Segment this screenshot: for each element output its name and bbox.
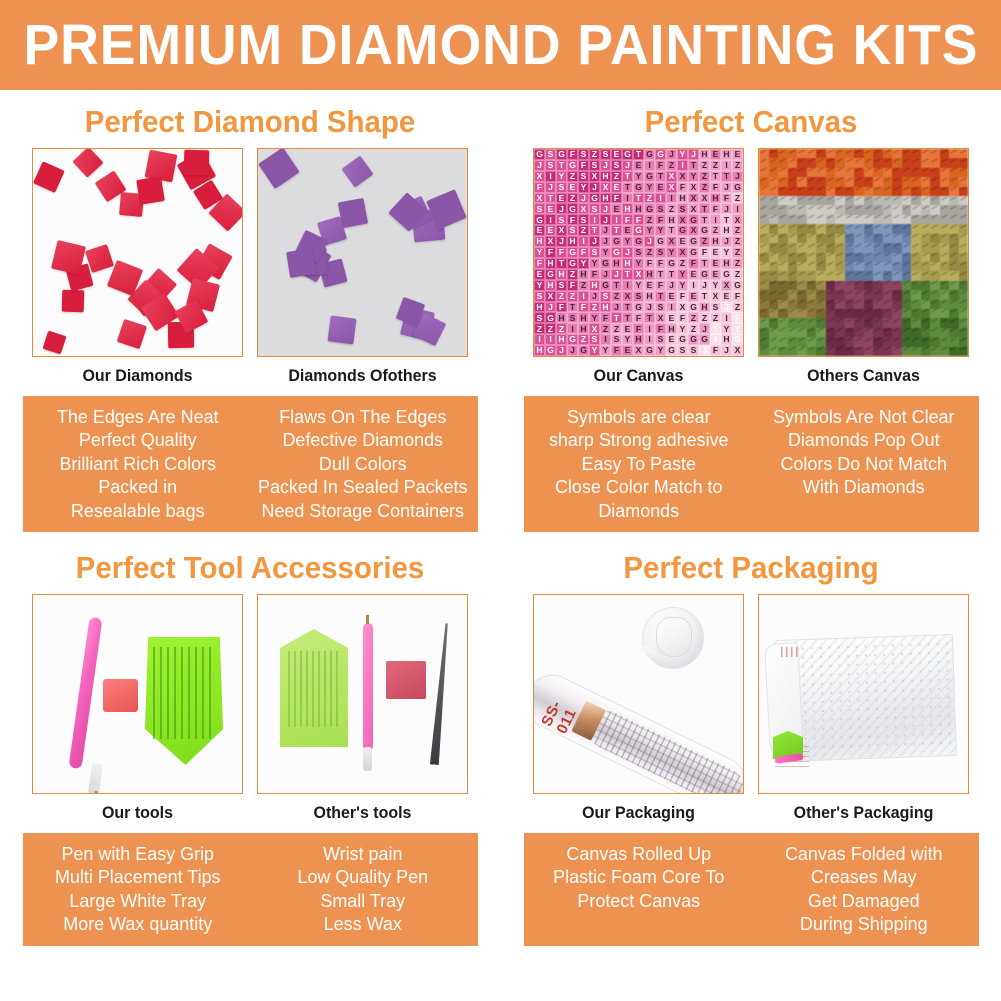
- canvas-symbol-cell: G: [677, 334, 688, 345]
- photo-our-diamonds: [32, 148, 243, 357]
- canvas-blur-cell: [816, 149, 826, 158]
- canvas-symbol-cell: X: [666, 171, 677, 182]
- canvas-symbol-cell: G: [589, 193, 600, 204]
- canvas-symbol-cell: J: [545, 302, 556, 313]
- canvas-blur-cell: [959, 318, 969, 327]
- canvas-blur-cell: [864, 168, 874, 177]
- photo-pair-packaging: SS-011 Our Packaging Other's P: [501, 594, 1001, 830]
- canvas-symbol-cell: J: [589, 236, 600, 247]
- text-line: Flaws On The Edges: [253, 405, 472, 428]
- canvas-symbol-cell: T: [699, 214, 710, 225]
- canvas-symbol-grid: GSGFSZSEGTGGJYJHEHEJSTGFSJSJEIFZITZZIZXI…: [534, 149, 743, 356]
- canvas-blur-cell: [845, 271, 855, 280]
- canvas-symbol-cell: I: [644, 334, 655, 345]
- canvas-blur-cell: [864, 337, 874, 346]
- canvas-symbol-cell: S: [655, 247, 666, 258]
- canvas-blur-cell: [902, 262, 912, 271]
- canvas-blur-cell: [921, 328, 931, 337]
- canvas-symbol-cell: I: [545, 334, 556, 345]
- canvas-symbol-cell: T: [710, 323, 721, 334]
- canvas-blur-cell: [769, 234, 779, 243]
- canvas-blur-cell: [835, 196, 845, 205]
- caption-other-packaging: Other's Packaging: [764, 794, 962, 830]
- canvas-blur-cell: [911, 347, 921, 356]
- canvas-blur-cell: [845, 158, 855, 167]
- canvas-blur-cell: [816, 347, 826, 356]
- canvas-symbol-cell: I: [677, 160, 688, 171]
- canvas-blur-cell: [892, 253, 902, 262]
- canvas-blur-cell: [864, 318, 874, 327]
- infographic-page: PREMIUM DIAMOND PAINTING KITS Perfect Di…: [0, 0, 1001, 1001]
- canvas-symbol-cell: H: [644, 291, 655, 302]
- canvas-blur-cell: [788, 158, 798, 167]
- canvas-blur-cell: [759, 187, 769, 196]
- canvas-blur-cell: [892, 224, 902, 233]
- canvas-blur-cell: [807, 224, 817, 233]
- canvas-blur-cell: [873, 234, 883, 243]
- canvas-symbol-cell: J: [732, 171, 743, 182]
- canvas-symbol-cell: E: [611, 203, 622, 214]
- canvas-symbol-cell: I: [589, 214, 600, 225]
- canvas-symbol-cell: Y: [677, 280, 688, 291]
- canvas-symbol-cell: Z: [710, 160, 721, 171]
- cell-other-packaging: Other's Packaging: [758, 594, 969, 830]
- canvas-blur-cell: [864, 253, 874, 262]
- canvas-blur-cell: [921, 309, 931, 318]
- text-line: Colors Do Not Match: [754, 452, 973, 475]
- canvas-blur-cell: [788, 337, 798, 346]
- canvas-blur-cell: [854, 271, 864, 280]
- canvas-symbol-cell: H: [600, 302, 611, 313]
- canvas-blur-cell: [845, 234, 855, 243]
- caption-our-canvas: Our Canvas: [539, 357, 737, 393]
- canvas-blur-cell: [930, 187, 940, 196]
- canvas-blur-cell: [911, 205, 921, 214]
- canvas-blur-cell: [921, 187, 931, 196]
- canvas-blur-cell: [892, 328, 902, 337]
- canvas-symbol-cell: T: [622, 182, 633, 193]
- canvas-blur-cell: [788, 281, 798, 290]
- canvas-blur-cell: [921, 215, 931, 224]
- canvas-symbol-cell: G: [567, 334, 578, 345]
- canvas-symbol-cell: S: [655, 334, 666, 345]
- canvas-symbol-cell: G: [567, 258, 578, 269]
- section-tool-accessories: Perfect Tool Accessories Our tools: [0, 538, 500, 946]
- canvas-blur-cell: [826, 243, 836, 252]
- canvas-blur-cell: [883, 205, 893, 214]
- canvas-blur-cell: [892, 290, 902, 299]
- canvas-symbol-cell: F: [655, 323, 666, 334]
- mailer-print-mark: [781, 647, 801, 657]
- canvas-symbol-cell: X: [688, 182, 699, 193]
- canvas-symbol-cell: G: [600, 280, 611, 291]
- canvas-blur-cell: [940, 281, 950, 290]
- canvas-symbol-cell: S: [545, 149, 556, 160]
- canvas-symbol-cell: H: [633, 334, 644, 345]
- canvas-blur-cell: [959, 309, 969, 318]
- canvas-blur-cell: [835, 205, 845, 214]
- canvas-blur-cell: [902, 196, 912, 205]
- canvas-blur-cell: [892, 281, 902, 290]
- canvas-blur-cell: [816, 337, 826, 346]
- cell-other-canvas: Others Canvas: [758, 148, 969, 393]
- canvas-blur-cell: [816, 158, 826, 167]
- canvas-blur-cell: [797, 281, 807, 290]
- canvas-symbol-cell: F: [644, 258, 655, 269]
- canvas-symbol-cell: Y: [534, 280, 545, 291]
- canvas-symbol-cell: F: [611, 345, 622, 356]
- text-column-ours: Canvas Rolled UpPlastic Foam Core ToProt…: [529, 842, 748, 936]
- canvas-symbol-cell: Z: [710, 225, 721, 236]
- canvas-blur-cell: [873, 196, 883, 205]
- canvas-blur-cell: [911, 177, 921, 186]
- canvas-blur-cell: [788, 262, 798, 271]
- canvas-blur-cell: [940, 243, 950, 252]
- canvas-symbol-cell: E: [710, 247, 721, 258]
- canvas-blur-cell: [826, 177, 836, 186]
- canvas-blur-cell: [845, 196, 855, 205]
- text-panel-tools: Pen with Easy GripMulti Placement TipsLa…: [23, 833, 478, 946]
- canvas-symbol-cell: T: [655, 291, 666, 302]
- canvas-symbol-cell: I: [666, 193, 677, 204]
- canvas-symbol-cell: F: [699, 247, 710, 258]
- canvas-blur-cell: [826, 224, 836, 233]
- canvas-symbol-cell: J: [567, 345, 578, 356]
- photo-our-packaging: SS-011: [533, 594, 744, 794]
- canvas-symbol-cell: H: [611, 258, 622, 269]
- wax-square: [103, 679, 138, 712]
- canvas-symbol-cell: T: [611, 280, 622, 291]
- canvas-blur-cell: [892, 149, 902, 158]
- canvas-symbol-cell: Y: [666, 247, 677, 258]
- canvas-symbol-cell: S: [556, 280, 567, 291]
- canvas-blur-cell: [816, 177, 826, 186]
- canvas-blur-cell: [892, 215, 902, 224]
- canvas-symbol-cell: G: [545, 312, 556, 323]
- canvas-symbol-cell: E: [611, 149, 622, 160]
- canvas-symbol-cell: G: [622, 149, 633, 160]
- canvas-blur-cell: [778, 271, 788, 280]
- canvas-blur-cell: [845, 205, 855, 214]
- canvas-blur-cell: [807, 300, 817, 309]
- canvas-blur-cell: [759, 271, 769, 280]
- canvas-symbol-cell: G: [732, 280, 743, 291]
- canvas-blur-cell: [911, 224, 921, 233]
- canvas-blur-cell: [864, 347, 874, 356]
- canvas-symbol-cell: X: [556, 225, 567, 236]
- canvas-blur-cell: [778, 149, 788, 158]
- canvas-blur-cell: [778, 337, 788, 346]
- canvas-symbol-cell: Z: [732, 302, 743, 313]
- canvas-blur-cell: [949, 168, 959, 177]
- canvas-symbol-cell: X: [677, 214, 688, 225]
- canvas-blur-cell: [835, 318, 845, 327]
- canvas-blur-cell: [959, 262, 969, 271]
- canvas-blur-cell: [835, 187, 845, 196]
- canvas-blur-cell: [854, 300, 864, 309]
- canvas-blur-cell: [930, 168, 940, 177]
- cell-our-canvas: GSGFSZSEGTGGJYJHEHEJSTGFSJSJEIFZITZZIZXI…: [533, 148, 744, 393]
- text-line: More Wax quantity: [28, 912, 247, 935]
- canvas-symbol-cell: Z: [699, 171, 710, 182]
- canvas-blur-cell: [864, 300, 874, 309]
- canvas-blur-cell: [797, 318, 807, 327]
- canvas-blur-cell: [930, 328, 940, 337]
- canvas-symbol-cell: F: [655, 214, 666, 225]
- text-line: Large White Tray: [28, 889, 247, 912]
- canvas-symbol-cell: E: [732, 149, 743, 160]
- canvas-blur-cell: [778, 215, 788, 224]
- canvas-blur-cell: [769, 196, 779, 205]
- canvas-symbol-cell: Z: [578, 280, 589, 291]
- canvas-blur-cell: [788, 243, 798, 252]
- canvas-blur-cell: [883, 290, 893, 299]
- canvas-blur-cell: [949, 234, 959, 243]
- canvas-blur-cell: [807, 262, 817, 271]
- canvas-symbol-cell: Z: [699, 182, 710, 193]
- canvas-blur-cell: [854, 309, 864, 318]
- canvas-blur-cell: [807, 149, 817, 158]
- canvas-symbol-cell: E: [677, 236, 688, 247]
- text-column-others: Wrist painLow Quality PenSmall TrayLess …: [253, 842, 472, 936]
- canvas-symbol-cell: G: [611, 236, 622, 247]
- canvas-symbol-cell: Y: [677, 149, 688, 160]
- canvas-symbol-cell: X: [688, 225, 699, 236]
- canvas-symbol-cell: S: [655, 203, 666, 214]
- canvas-symbol-cell: Y: [655, 225, 666, 236]
- canvas-blur-cell: [826, 309, 836, 318]
- canvas-blur-cell: [797, 177, 807, 186]
- canvas-blur-cell: [816, 290, 826, 299]
- canvas-blur-cell: [892, 234, 902, 243]
- wax-square: [386, 661, 426, 699]
- canvas-symbol-cell: S: [578, 171, 589, 182]
- cell-other-tools: Other's tools: [257, 594, 468, 830]
- canvas-blur-cell: [759, 281, 769, 290]
- canvas-symbol-cell: I: [644, 160, 655, 171]
- canvas-symbol-cell: Y: [644, 225, 655, 236]
- canvas-blur-cell: [949, 224, 959, 233]
- text-line: Symbols Are Not Clear: [754, 405, 973, 428]
- canvas-blur-cell: [807, 158, 817, 167]
- canvas-blur-cell: [883, 187, 893, 196]
- canvas-blur-cell: [959, 158, 969, 167]
- canvas-blur-cell: [902, 337, 912, 346]
- canvas-blur-cell: [845, 177, 855, 186]
- canvas-blur-cell: [835, 215, 845, 224]
- canvas-blur-cell: [921, 168, 931, 177]
- canvas-blur-cell: [864, 281, 874, 290]
- canvas-symbol-cell: Y: [600, 247, 611, 258]
- canvas-blur-cell: [940, 158, 950, 167]
- canvas-blur-cell: [769, 168, 779, 177]
- canvas-blur-cell: [921, 300, 931, 309]
- canvas-blur-cell: [854, 328, 864, 337]
- canvas-symbol-cell: E: [666, 334, 677, 345]
- canvas-blur-cell: [826, 215, 836, 224]
- pen-grip: [363, 747, 372, 771]
- canvas-symbol-cell: X: [545, 236, 556, 247]
- canvas-blur-cell: [826, 149, 836, 158]
- canvas-symbol-cell: Z: [644, 214, 655, 225]
- canvas-symbol-cell: S: [611, 160, 622, 171]
- text-panel-diamond-shape: The Edges Are NeatPerfect QualityBrillia…: [23, 396, 478, 532]
- section-canvas: Perfect Canvas GSGFSZSEGTGGJYJHEHEJSTGFS…: [501, 92, 1001, 532]
- canvas-symbol-cell: Y: [688, 171, 699, 182]
- canvas-symbol-cell: Z: [732, 258, 743, 269]
- canvas-symbol-cell: X: [534, 171, 545, 182]
- canvas-symbol-cell: S: [534, 203, 545, 214]
- canvas-symbol-cell: X: [721, 280, 732, 291]
- canvas-symbol-cell: Z: [732, 247, 743, 258]
- canvas-symbol-cell: G: [732, 182, 743, 193]
- canvas-blur-cell: [778, 347, 788, 356]
- canvas-blur-cell: [807, 253, 817, 262]
- canvas-symbol-cell: E: [721, 291, 732, 302]
- canvas-symbol-cell: J: [600, 214, 611, 225]
- canvas-blur-cell: [835, 177, 845, 186]
- canvas-blur-cell: [759, 243, 769, 252]
- canvas-blur-cell: [883, 224, 893, 233]
- canvas-symbol-cell: Y: [710, 280, 721, 291]
- canvas-blur-cell: [949, 243, 959, 252]
- canvas-blur-cell: [930, 149, 940, 158]
- canvas-blur-cell: [807, 271, 817, 280]
- canvas-blur-cell: [778, 318, 788, 327]
- canvas-symbol-cell: I: [721, 160, 732, 171]
- canvas-symbol-cell: Y: [644, 182, 655, 193]
- canvas-symbol-cell: T: [622, 312, 633, 323]
- canvas-blur-cell: [883, 318, 893, 327]
- canvas-blur-cell: [873, 243, 883, 252]
- canvas-symbol-cell: I: [622, 193, 633, 204]
- canvas-blur-cell: [959, 177, 969, 186]
- caption-our-tools: Our tools: [38, 794, 236, 830]
- canvas-blur-cell: [921, 337, 931, 346]
- section-title-packaging: Perfect Packaging: [514, 538, 989, 594]
- canvas-blur-cell: [797, 149, 807, 158]
- canvas-symbol-cell: G: [600, 258, 611, 269]
- canvas-blur-cell: [930, 337, 940, 346]
- canvas-blur-cell: [940, 300, 950, 309]
- canvas-blur-cell: [930, 158, 940, 167]
- canvas-blur-cell: [911, 234, 921, 243]
- canvas-blur-cell: [854, 243, 864, 252]
- canvas-symbol-cell: I: [710, 334, 721, 345]
- canvas-blur-cell: [902, 168, 912, 177]
- canvas-blur-cell: [940, 224, 950, 233]
- canvas-blur-cell: [940, 205, 950, 214]
- canvas-blur-cell: [854, 253, 864, 262]
- canvas-symbol-cell: F: [721, 193, 732, 204]
- canvas-blur-cell: [845, 309, 855, 318]
- canvas-symbol-cell: G: [644, 345, 655, 356]
- canvas-symbol-cell: G: [534, 149, 545, 160]
- text-line: Easy To Paste: [529, 452, 748, 475]
- canvas-blur-cell: [816, 243, 826, 252]
- canvas-blur-cell: [778, 205, 788, 214]
- canvas-blur-cell: [949, 205, 959, 214]
- text-column-ours: Symbols are clearsharp Strong adhesiveEa…: [529, 405, 748, 522]
- canvas-blur-cell: [892, 158, 902, 167]
- canvas-symbol-cell: Z: [644, 247, 655, 258]
- text-line: Plastic Foam Core To: [529, 865, 748, 888]
- canvas-blur-cell: [940, 177, 950, 186]
- canvas-blur-cell: [845, 290, 855, 299]
- canvas-blur-cell: [959, 253, 969, 262]
- canvas-symbol-cell: J: [534, 160, 545, 171]
- canvas-blur-cell: [959, 281, 969, 290]
- canvas-blur-cell: [921, 243, 931, 252]
- canvas-blur-cell: [807, 347, 817, 356]
- text-line: Perfect Quality: [28, 428, 247, 451]
- text-line: Canvas Folded with: [754, 842, 973, 865]
- canvas-blur-cell: [769, 262, 779, 271]
- canvas-blur-cell: [902, 281, 912, 290]
- canvas-symbol-cell: S: [677, 345, 688, 356]
- canvas-symbol-cell: I: [567, 323, 578, 334]
- canvas-blur-cell: [816, 328, 826, 337]
- text-line: Packed in: [28, 475, 247, 498]
- canvas-symbol-cell: T: [699, 291, 710, 302]
- canvas-blur-cell: [797, 215, 807, 224]
- canvas-blur-cell: [807, 309, 817, 318]
- canvas-blur-cell: [816, 234, 826, 243]
- canvas-symbol-cell: J: [644, 302, 655, 313]
- canvas-symbol-cell: T: [545, 193, 556, 204]
- canvas-blur-cell: [902, 309, 912, 318]
- canvas-blur-cell: [769, 253, 779, 262]
- canvas-blur-cell: [883, 149, 893, 158]
- canvas-symbol-cell: T: [622, 269, 633, 280]
- canvas-blur-cell: [883, 234, 893, 243]
- canvas-symbol-cell: F: [710, 345, 721, 356]
- canvas-blur-cell: [864, 196, 874, 205]
- photo-our-tools: [32, 594, 243, 794]
- text-line: Close Color Match to: [529, 475, 748, 498]
- canvas-blur-cell: [883, 281, 893, 290]
- canvas-symbol-cell: J: [721, 302, 732, 313]
- canvas-blur-cell: [864, 158, 874, 167]
- canvas-symbol-cell: G: [534, 214, 545, 225]
- canvas-symbol-cell: G: [556, 149, 567, 160]
- canvas-blur-cell: [769, 328, 779, 337]
- photo-pair-diamond-shape: Our Diamonds Diamonds Ofothers: [0, 148, 500, 393]
- canvas-blur-cell: [921, 234, 931, 243]
- canvas-symbol-cell: Z: [589, 302, 600, 313]
- canvas-blur-cell: [845, 224, 855, 233]
- canvas-blur-cell: [816, 318, 826, 327]
- text-line: During Shipping: [754, 912, 973, 935]
- canvas-symbol-cell: Y: [633, 280, 644, 291]
- cell-our-packaging: SS-011 Our Packaging: [533, 594, 744, 830]
- canvas-symbol-cell: T: [556, 258, 567, 269]
- canvas-blur-cell: [769, 158, 779, 167]
- canvas-blur-cell: [864, 243, 874, 252]
- canvas-blur-cell: [854, 158, 864, 167]
- canvas-blur-cell: [854, 234, 864, 243]
- canvas-symbol-cell: Z: [699, 236, 710, 247]
- canvas-blur-cell: [826, 337, 836, 346]
- canvas-blur-cell: [873, 215, 883, 224]
- caption-our-diamonds: Our Diamonds: [38, 357, 236, 393]
- canvas-symbol-cell: G: [633, 236, 644, 247]
- canvas-symbol-cell: E: [622, 323, 633, 334]
- canvas-symbol-cell: F: [534, 258, 545, 269]
- canvas-blur-cell: [873, 271, 883, 280]
- canvas-symbol-cell: Y: [721, 247, 732, 258]
- canvas-blur-cell: [807, 205, 817, 214]
